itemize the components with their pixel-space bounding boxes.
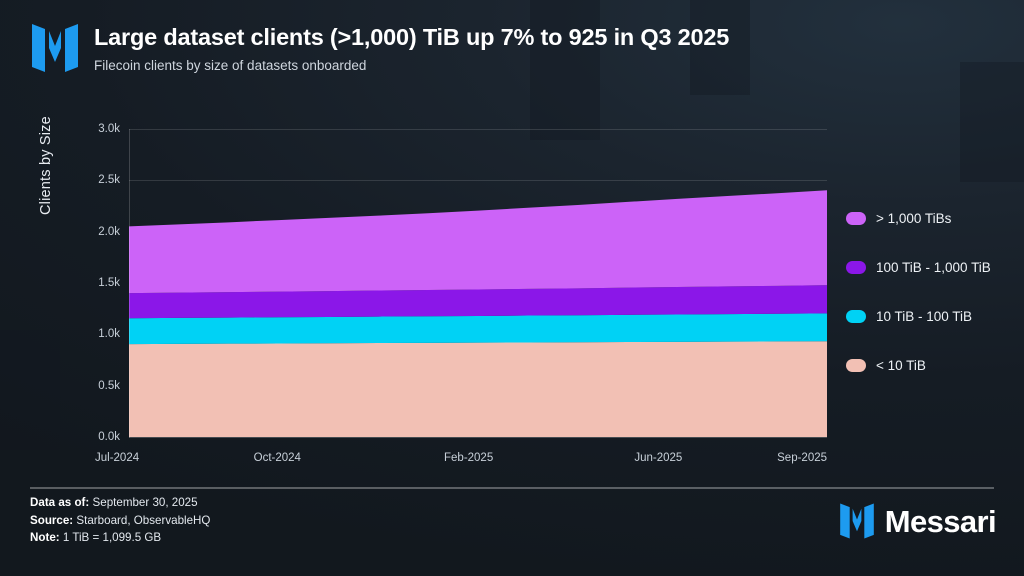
legend-label: < 10 TiB: [876, 358, 926, 373]
messari-m-icon: [32, 22, 78, 74]
footer-note: Note: 1 TiB = 1,099.5 GB: [30, 529, 210, 547]
legend-label: > 1,000 TiBs: [876, 211, 951, 226]
footer-divider: [30, 487, 994, 489]
stacked-area-series: [129, 129, 827, 437]
y-axis-tick-label: 2.5k: [98, 174, 120, 186]
chart-header: Large dataset clients (>1,000) TiB up 7%…: [32, 22, 729, 74]
y-axis-line: [129, 129, 130, 438]
area-series: [129, 313, 827, 344]
x-axis-line: [129, 437, 827, 438]
background-texture: [960, 62, 1024, 182]
x-axis-tick-label: Jun-2025: [634, 452, 682, 464]
legend-label: 10 TiB - 100 TiB: [876, 309, 972, 324]
brand-name: Messari: [885, 506, 996, 537]
page-subtitle: Filecoin clients by size of datasets onb…: [94, 58, 729, 73]
chart-page: Large dataset clients (>1,000) TiB up 7%…: [0, 0, 1024, 576]
footer-source-label: Source:: [30, 514, 73, 527]
footer-data-as-of-value: September 30, 2025: [93, 496, 198, 509]
legend-swatch-icon: [846, 212, 866, 225]
legend-swatch-icon: [846, 359, 866, 372]
header-titles: Large dataset clients (>1,000) TiB up 7%…: [94, 22, 729, 73]
page-title: Large dataset clients (>1,000) TiB up 7%…: [94, 24, 729, 51]
footer-source-value: Starboard, ObservableHQ: [76, 514, 210, 527]
x-axis-tick-label: Sep-2025: [777, 452, 827, 464]
legend-label: 100 TiB - 1,000 TiB: [876, 260, 991, 275]
legend-swatch-icon: [846, 261, 866, 274]
plot-area: [129, 129, 827, 437]
footer-source: Source: Starboard, ObservableHQ: [30, 512, 210, 530]
brand-lockup: Messari: [840, 502, 996, 540]
legend-swatch-icon: [846, 310, 866, 323]
footer-notes: Data as of: September 30, 2025 Source: S…: [30, 494, 210, 547]
y-axis-tick-label: 0.0k: [98, 431, 120, 443]
footer-note-label: Note:: [30, 531, 60, 544]
y-axis-ticks: 0.0k0.5k1.0k1.5k2.0k2.5k3.0k: [0, 129, 120, 437]
legend-item[interactable]: 100 TiB - 1,000 TiB: [846, 255, 1021, 279]
x-axis-tick-label: Oct-2024: [254, 452, 301, 464]
y-axis-tick-label: 1.5k: [98, 277, 120, 289]
y-axis-tick-label: 3.0k: [98, 123, 120, 135]
messari-m-icon: [840, 502, 874, 540]
y-axis-tick-label: 2.0k: [98, 226, 120, 238]
x-axis-tick-label: Jul-2024: [95, 452, 139, 464]
footer-data-as-of-label: Data as of:: [30, 496, 89, 509]
y-axis-tick-label: 1.0k: [98, 328, 120, 340]
area-series: [129, 190, 827, 293]
footer-note-value: 1 TiB = 1,099.5 GB: [63, 531, 161, 544]
area-series: [129, 341, 827, 437]
footer-data-as-of: Data as of: September 30, 2025: [30, 494, 210, 512]
legend-item[interactable]: 10 TiB - 100 TiB: [846, 304, 1021, 328]
legend-item[interactable]: > 1,000 TiBs: [846, 206, 1021, 230]
chart-legend: > 1,000 TiBs100 TiB - 1,000 TiB10 TiB - …: [846, 206, 1021, 402]
x-axis-tick-label: Feb-2025: [444, 452, 493, 464]
legend-item[interactable]: < 10 TiB: [846, 353, 1021, 377]
y-axis-tick-label: 0.5k: [98, 380, 120, 392]
